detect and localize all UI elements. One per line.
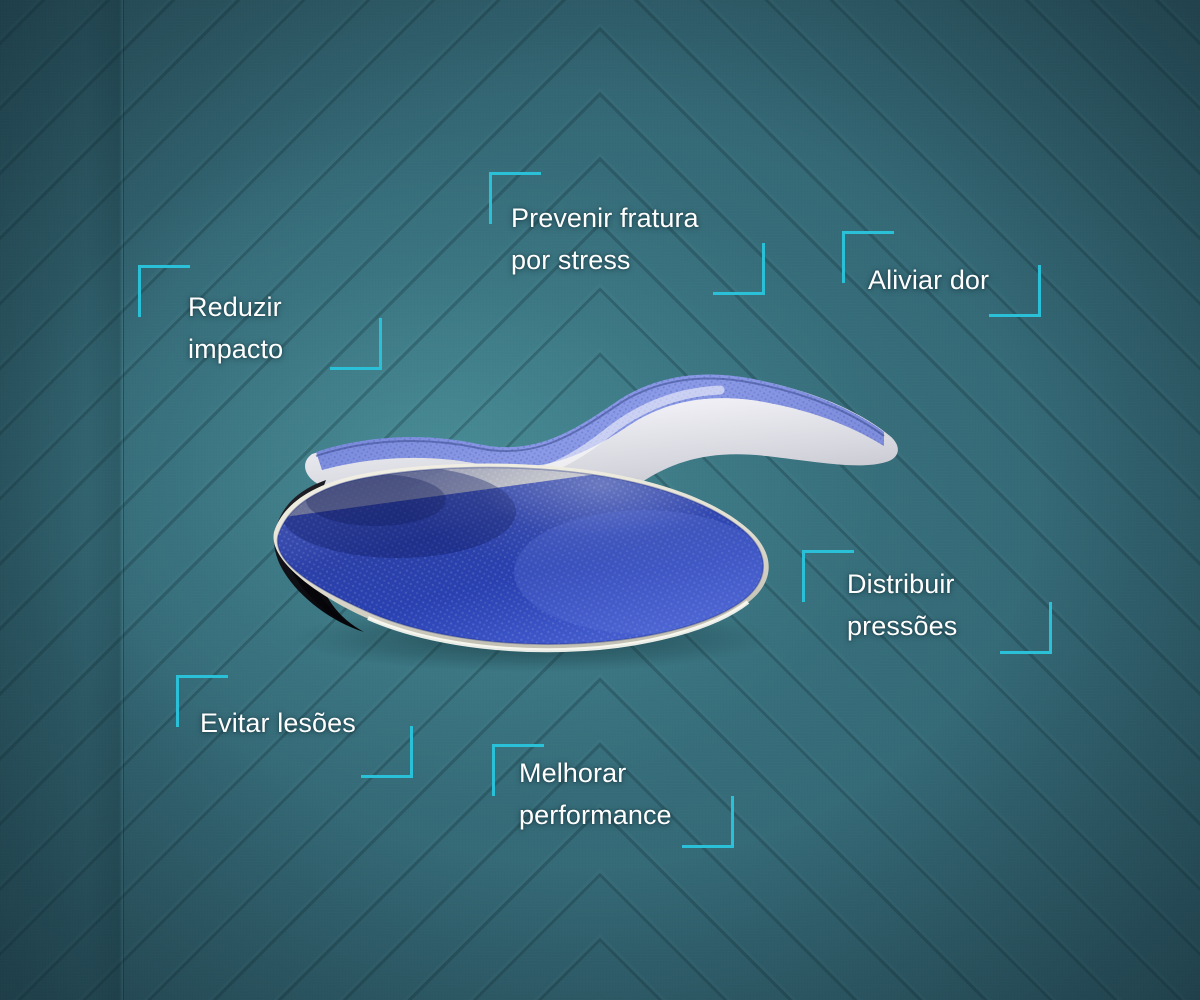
benefit-label-prevenir-fratura-por-stress: Prevenir fratura por stress (511, 197, 699, 281)
benefit-label-distribuir-pressoes: Distribuir pressões (847, 563, 957, 647)
benefit-label-reduzir-impacto: Reduzir impacto (188, 286, 283, 370)
benefit-label-evitar-lesoes: Evitar lesões (200, 702, 356, 744)
benefit-label-melhorar-performance: Melhorar performance (519, 752, 672, 836)
benefit-label-aliviar-dor: Aliviar dor (868, 259, 989, 301)
poster-canvas: Reduzir impacto Prevenir fratura por str… (0, 0, 1200, 1000)
